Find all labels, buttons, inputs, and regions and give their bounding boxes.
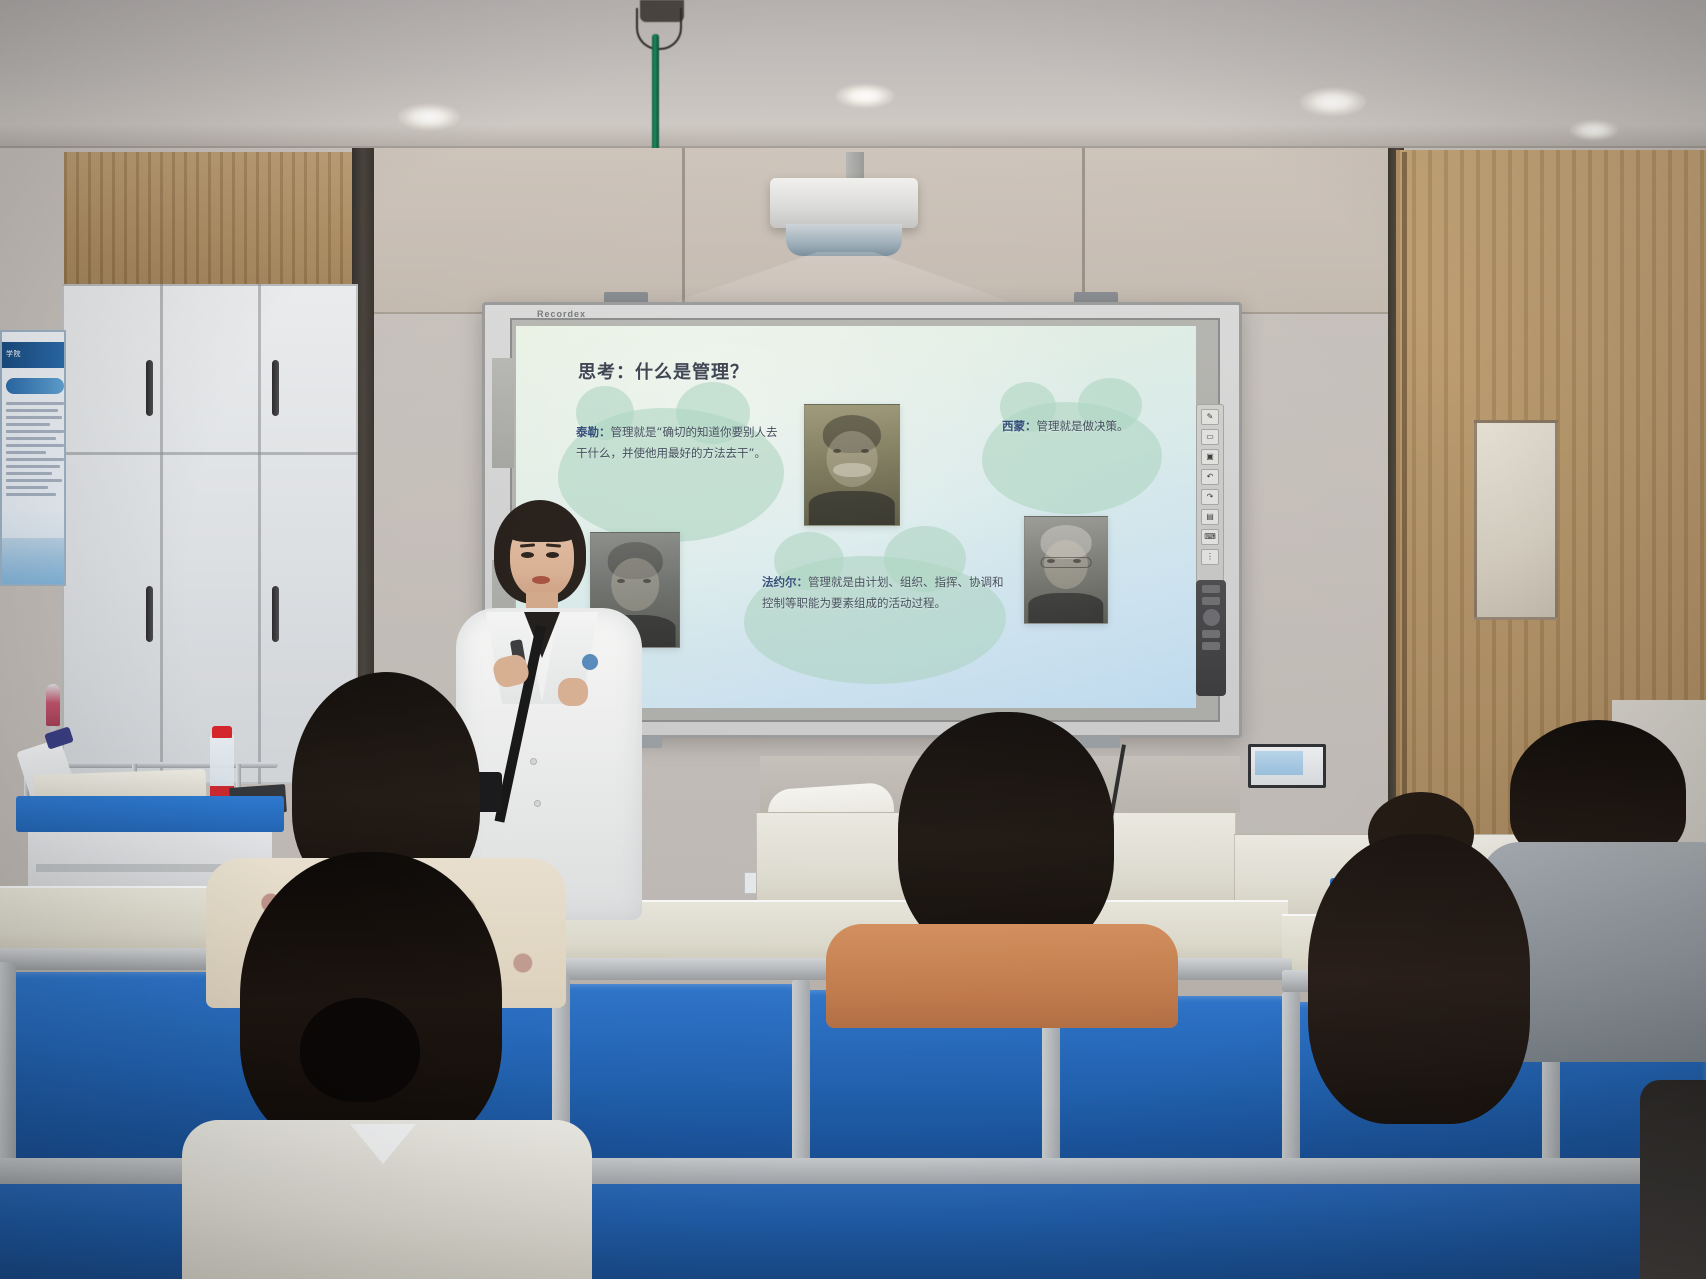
- ceiling-light: [1300, 88, 1366, 116]
- wall-poster: 学院: [0, 330, 66, 586]
- green-hanging-cord: [652, 34, 659, 152]
- undo-icon[interactable]: ↶: [1201, 469, 1219, 485]
- quote-separator: ：: [1025, 419, 1037, 433]
- save-icon[interactable]: ▤: [1201, 509, 1219, 525]
- iv-pole-tip: [46, 684, 60, 726]
- student-orange: [816, 712, 1186, 1012]
- chair-post: [0, 962, 16, 1172]
- chair-back[interactable]: [566, 984, 796, 1160]
- poster-accent-bar: [6, 378, 64, 394]
- chair-post: [792, 980, 810, 1172]
- student-hair: [898, 712, 1114, 958]
- volume-button[interactable]: [1202, 630, 1220, 638]
- projector-lens: [786, 224, 902, 256]
- quote-fayol: 法约尔：管理就是由计划、组织、指挥、协调和控制等职能为要素组成的活动过程。: [762, 572, 1006, 614]
- source-button[interactable]: [1202, 597, 1220, 605]
- instructor-eye: [521, 552, 534, 558]
- upper-cabinet-panel: [1084, 148, 1396, 314]
- ceiling-light: [836, 84, 894, 108]
- portrait-simon: [1024, 516, 1108, 624]
- classroom-photo: 学院 Recordex 思考：什么是管理？: [0, 0, 1706, 1279]
- menu-dial[interactable]: [1203, 609, 1220, 626]
- instructor-eye: [546, 552, 559, 558]
- ceiling-light: [398, 104, 460, 130]
- student-bun: [1258, 790, 1578, 1140]
- instructor-hair-front: [506, 508, 578, 542]
- upper-cabinet-panel: [372, 148, 684, 314]
- student-hair: [1308, 834, 1530, 1124]
- student-dark-top: [1640, 1080, 1706, 1279]
- pen-icon[interactable]: ✎: [1201, 409, 1219, 425]
- panel-seam: [682, 148, 685, 314]
- coat-badge: [582, 654, 598, 670]
- quote-separator: ：: [599, 425, 611, 439]
- wall-monitor: [1248, 744, 1326, 788]
- ceiling-light: [1570, 120, 1618, 140]
- wood-grain-texture: [64, 152, 356, 302]
- student-hair-bun: [300, 998, 420, 1102]
- locker-handle[interactable]: [272, 360, 279, 416]
- door-window: [1474, 420, 1558, 620]
- projector: [770, 178, 918, 228]
- quote-speaker-simon: 西蒙: [1002, 419, 1025, 433]
- poster-header-text: 学院: [2, 351, 21, 358]
- quote-text-simon: 管理就是做决策。: [1037, 419, 1129, 433]
- poster-footer-graphic: [2, 538, 66, 584]
- board-bezel-strip: [492, 358, 514, 468]
- locker-divider: [160, 284, 163, 784]
- panel-seam: [1082, 148, 1085, 314]
- eraser-icon[interactable]: ▭: [1201, 429, 1219, 445]
- select-icon[interactable]: ▣: [1201, 449, 1219, 465]
- more-icon[interactable]: ⋮: [1201, 549, 1219, 565]
- student-front: [160, 852, 600, 1279]
- quote-speaker-fayol: 法约尔: [762, 575, 797, 589]
- student-edge: [1640, 1080, 1706, 1279]
- locker-handle[interactable]: [146, 360, 153, 416]
- portrait-fayol: [804, 404, 900, 526]
- student-orange-blazer: [826, 924, 1178, 1028]
- quote-separator: ：: [797, 575, 809, 589]
- redo-icon[interactable]: ↷: [1201, 489, 1219, 505]
- poster-text-block: [6, 402, 64, 500]
- mute-button[interactable]: [1202, 642, 1220, 650]
- whiteboard-control-pad[interactable]: [1196, 580, 1226, 696]
- locker-divider: [62, 452, 358, 455]
- ceiling: [0, 0, 1706, 152]
- quote-taylor: 泰勒：管理就是“确切的知道你要别人去干什么，并使他用最好的方法去干”。: [576, 422, 786, 464]
- quote-simon: 西蒙：管理就是做决策。: [1002, 416, 1162, 437]
- locker-handle[interactable]: [146, 586, 153, 642]
- locker-handle[interactable]: [272, 586, 279, 642]
- quote-speaker-taylor: 泰勒: [576, 425, 599, 439]
- ceiling-wire: [636, 8, 682, 50]
- poster-header: 学院: [2, 342, 66, 368]
- instructor-mouth: [532, 576, 550, 584]
- power-button[interactable]: [1202, 585, 1220, 593]
- keyboard-icon[interactable]: ⌨: [1201, 529, 1219, 545]
- slide-title: 思考：什么是管理？: [578, 358, 749, 384]
